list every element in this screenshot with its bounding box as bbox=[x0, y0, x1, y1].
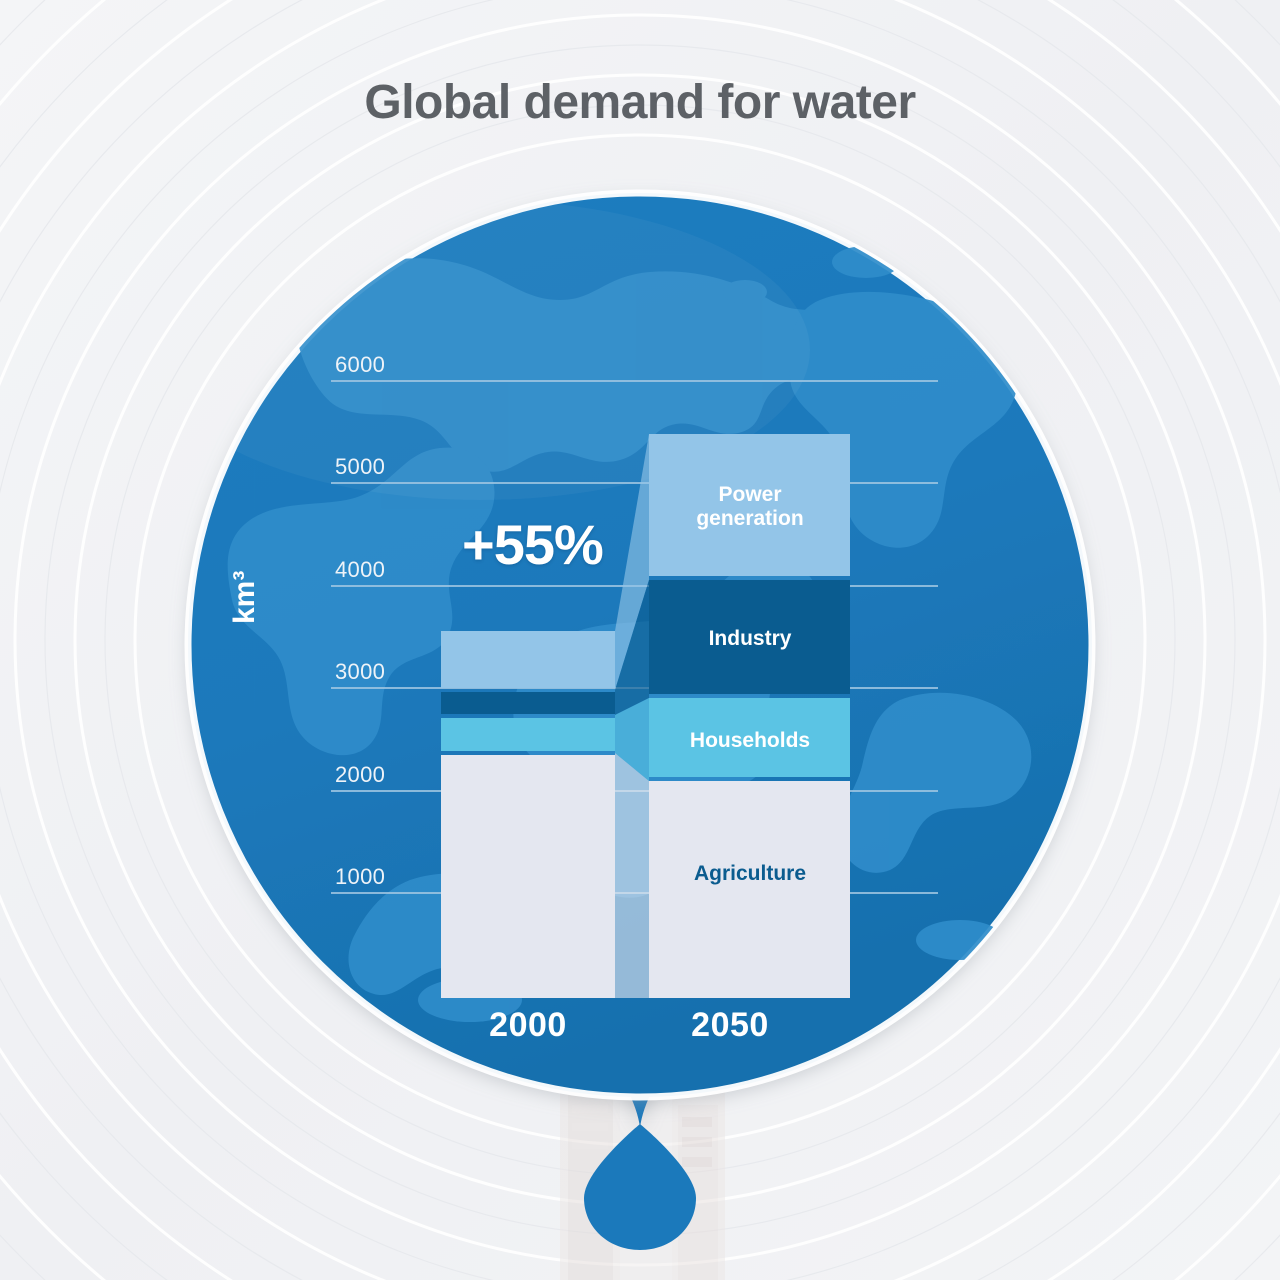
flow-ribbons bbox=[615, 434, 649, 998]
y-tick-4000: 4000 bbox=[335, 557, 385, 583]
bar-2000 bbox=[441, 631, 615, 998]
segment-label-power-generation-line2: generation bbox=[696, 507, 803, 530]
x-label-2050: 2050 bbox=[610, 1006, 850, 1045]
y-tick-1000: 1000 bbox=[335, 864, 385, 890]
infographic-canvas: Global demand for water bbox=[0, 0, 1280, 1280]
segment-2000-power-generation bbox=[441, 631, 615, 688]
segment-label-agriculture: Agriculture bbox=[645, 862, 855, 886]
segment-label-households: Households bbox=[645, 729, 855, 753]
segment-label-industry: Industry bbox=[645, 627, 855, 651]
segment-label-power-generation: Power generation bbox=[645, 483, 855, 532]
y-axis-unit-label: km³ bbox=[228, 571, 262, 624]
y-tick-6000: 6000 bbox=[335, 352, 385, 378]
y-tick-2000: 2000 bbox=[335, 762, 385, 788]
segment-2000-agriculture bbox=[441, 755, 615, 998]
stacked-bar-chart bbox=[0, 0, 1280, 1280]
segment-label-power-generation-line1: Power bbox=[718, 483, 781, 506]
segment-2000-industry bbox=[441, 692, 615, 714]
page-title: Global demand for water bbox=[0, 75, 1280, 130]
y-tick-3000: 3000 bbox=[335, 659, 385, 685]
y-tick-5000: 5000 bbox=[335, 454, 385, 480]
growth-annotation: +55% bbox=[462, 512, 603, 577]
segment-2050-agriculture bbox=[649, 781, 850, 998]
segment-2000-households bbox=[441, 718, 615, 751]
